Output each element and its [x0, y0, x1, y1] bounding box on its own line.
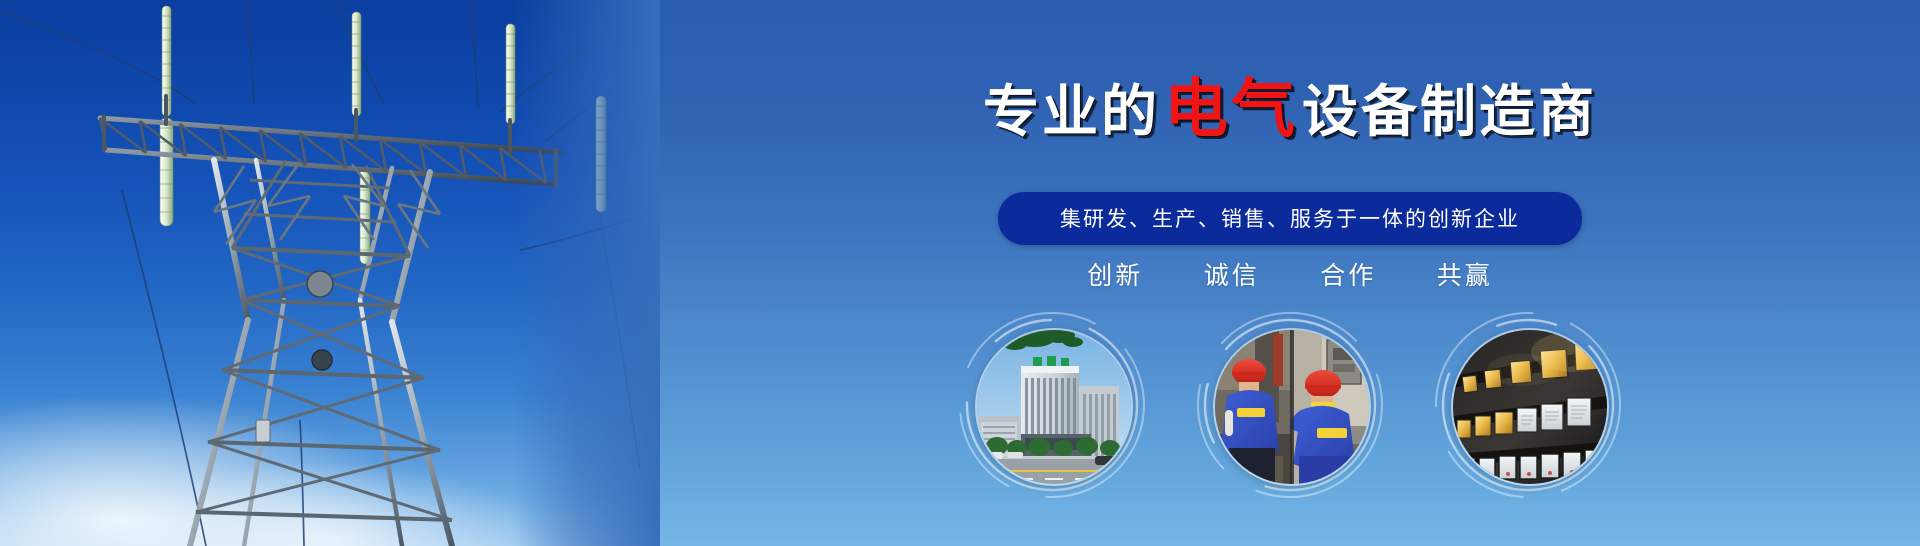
keyword-winwin: 共赢 [1437, 256, 1493, 292]
photo-circle-technicians [1205, 320, 1375, 490]
photo-circle-certificate-wall [1443, 320, 1613, 490]
hero-banner: 专业的电气设备制造商 集研发、生产、销售、服务于一体的创新企业 创新 诚信 合作… [0, 0, 1920, 546]
transmission-tower-photo [0, 0, 660, 546]
office-building-image [975, 328, 1133, 486]
keyword-row: 创新 诚信 合作 共赢 [660, 256, 1920, 292]
technicians-image [1213, 328, 1371, 486]
headline-highlight: 电气 [1160, 73, 1302, 145]
photo-circle-group [660, 320, 1920, 520]
headline-part-3: 设备制造商 [1302, 80, 1597, 143]
keyword-innovation: 创新 [1087, 256, 1143, 292]
page-title: 专业的电气设备制造商 [660, 78, 1920, 143]
subtitle-badge: 集研发、生产、销售、服务于一体的创新企业 [998, 192, 1582, 245]
photo-circle-office-building [967, 320, 1137, 490]
banner-content: 专业的电气设备制造商 集研发、生产、销售、服务于一体的创新企业 创新 诚信 合作… [660, 0, 1920, 546]
pylon-illustration [0, 0, 660, 546]
keyword-cooperation: 合作 [1320, 256, 1376, 292]
subtitle-row: 集研发、生产、销售、服务于一体的创新企业 [660, 192, 1920, 245]
headline-part-1: 专业的 [983, 80, 1160, 143]
keyword-integrity: 诚信 [1204, 256, 1260, 292]
certificate-wall-image [1451, 328, 1609, 486]
